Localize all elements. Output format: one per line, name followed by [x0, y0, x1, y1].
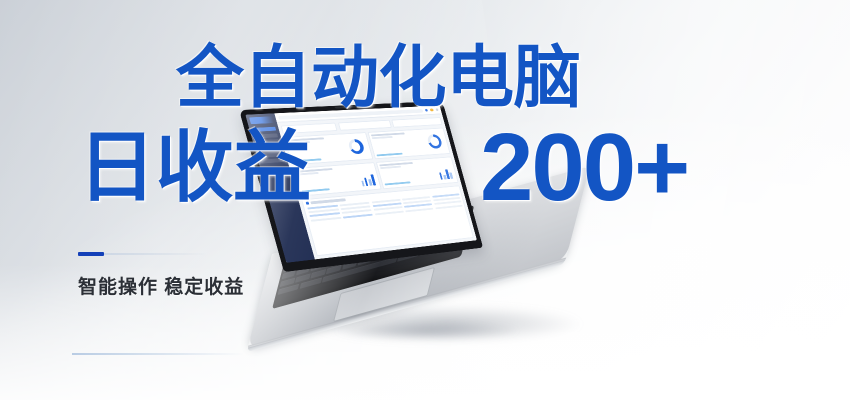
promo-banner: 全自动化电脑 日收益 200+ 智能操作 稳定收益	[0, 0, 850, 400]
donut-chart	[347, 139, 365, 155]
headline-amount: 200+	[480, 120, 688, 216]
stat-chip[interactable]	[337, 120, 391, 131]
bar-card[interactable]	[376, 156, 458, 189]
card-subtitle	[372, 136, 393, 139]
headline-line-1: 全自动化电脑	[176, 44, 581, 112]
accent-bar	[78, 252, 206, 256]
accent-bar-solid	[78, 252, 104, 256]
card-legend	[385, 182, 411, 186]
bottom-accent-line	[72, 353, 244, 355]
subtitle-text: 智能操作 稳定收益	[78, 272, 244, 299]
donut-chart	[426, 134, 443, 149]
stat-chip[interactable]	[391, 117, 442, 128]
bar-chart	[359, 172, 376, 186]
bar-chart	[437, 166, 453, 179]
card-subtitle	[380, 166, 401, 169]
card-legend	[377, 152, 403, 155]
headline-line-2: 日收益	[78, 128, 311, 206]
subtitle-block: 智能操作 稳定收益	[78, 252, 244, 299]
accent-bar-fade	[104, 253, 206, 255]
donut-card[interactable]	[368, 128, 451, 160]
